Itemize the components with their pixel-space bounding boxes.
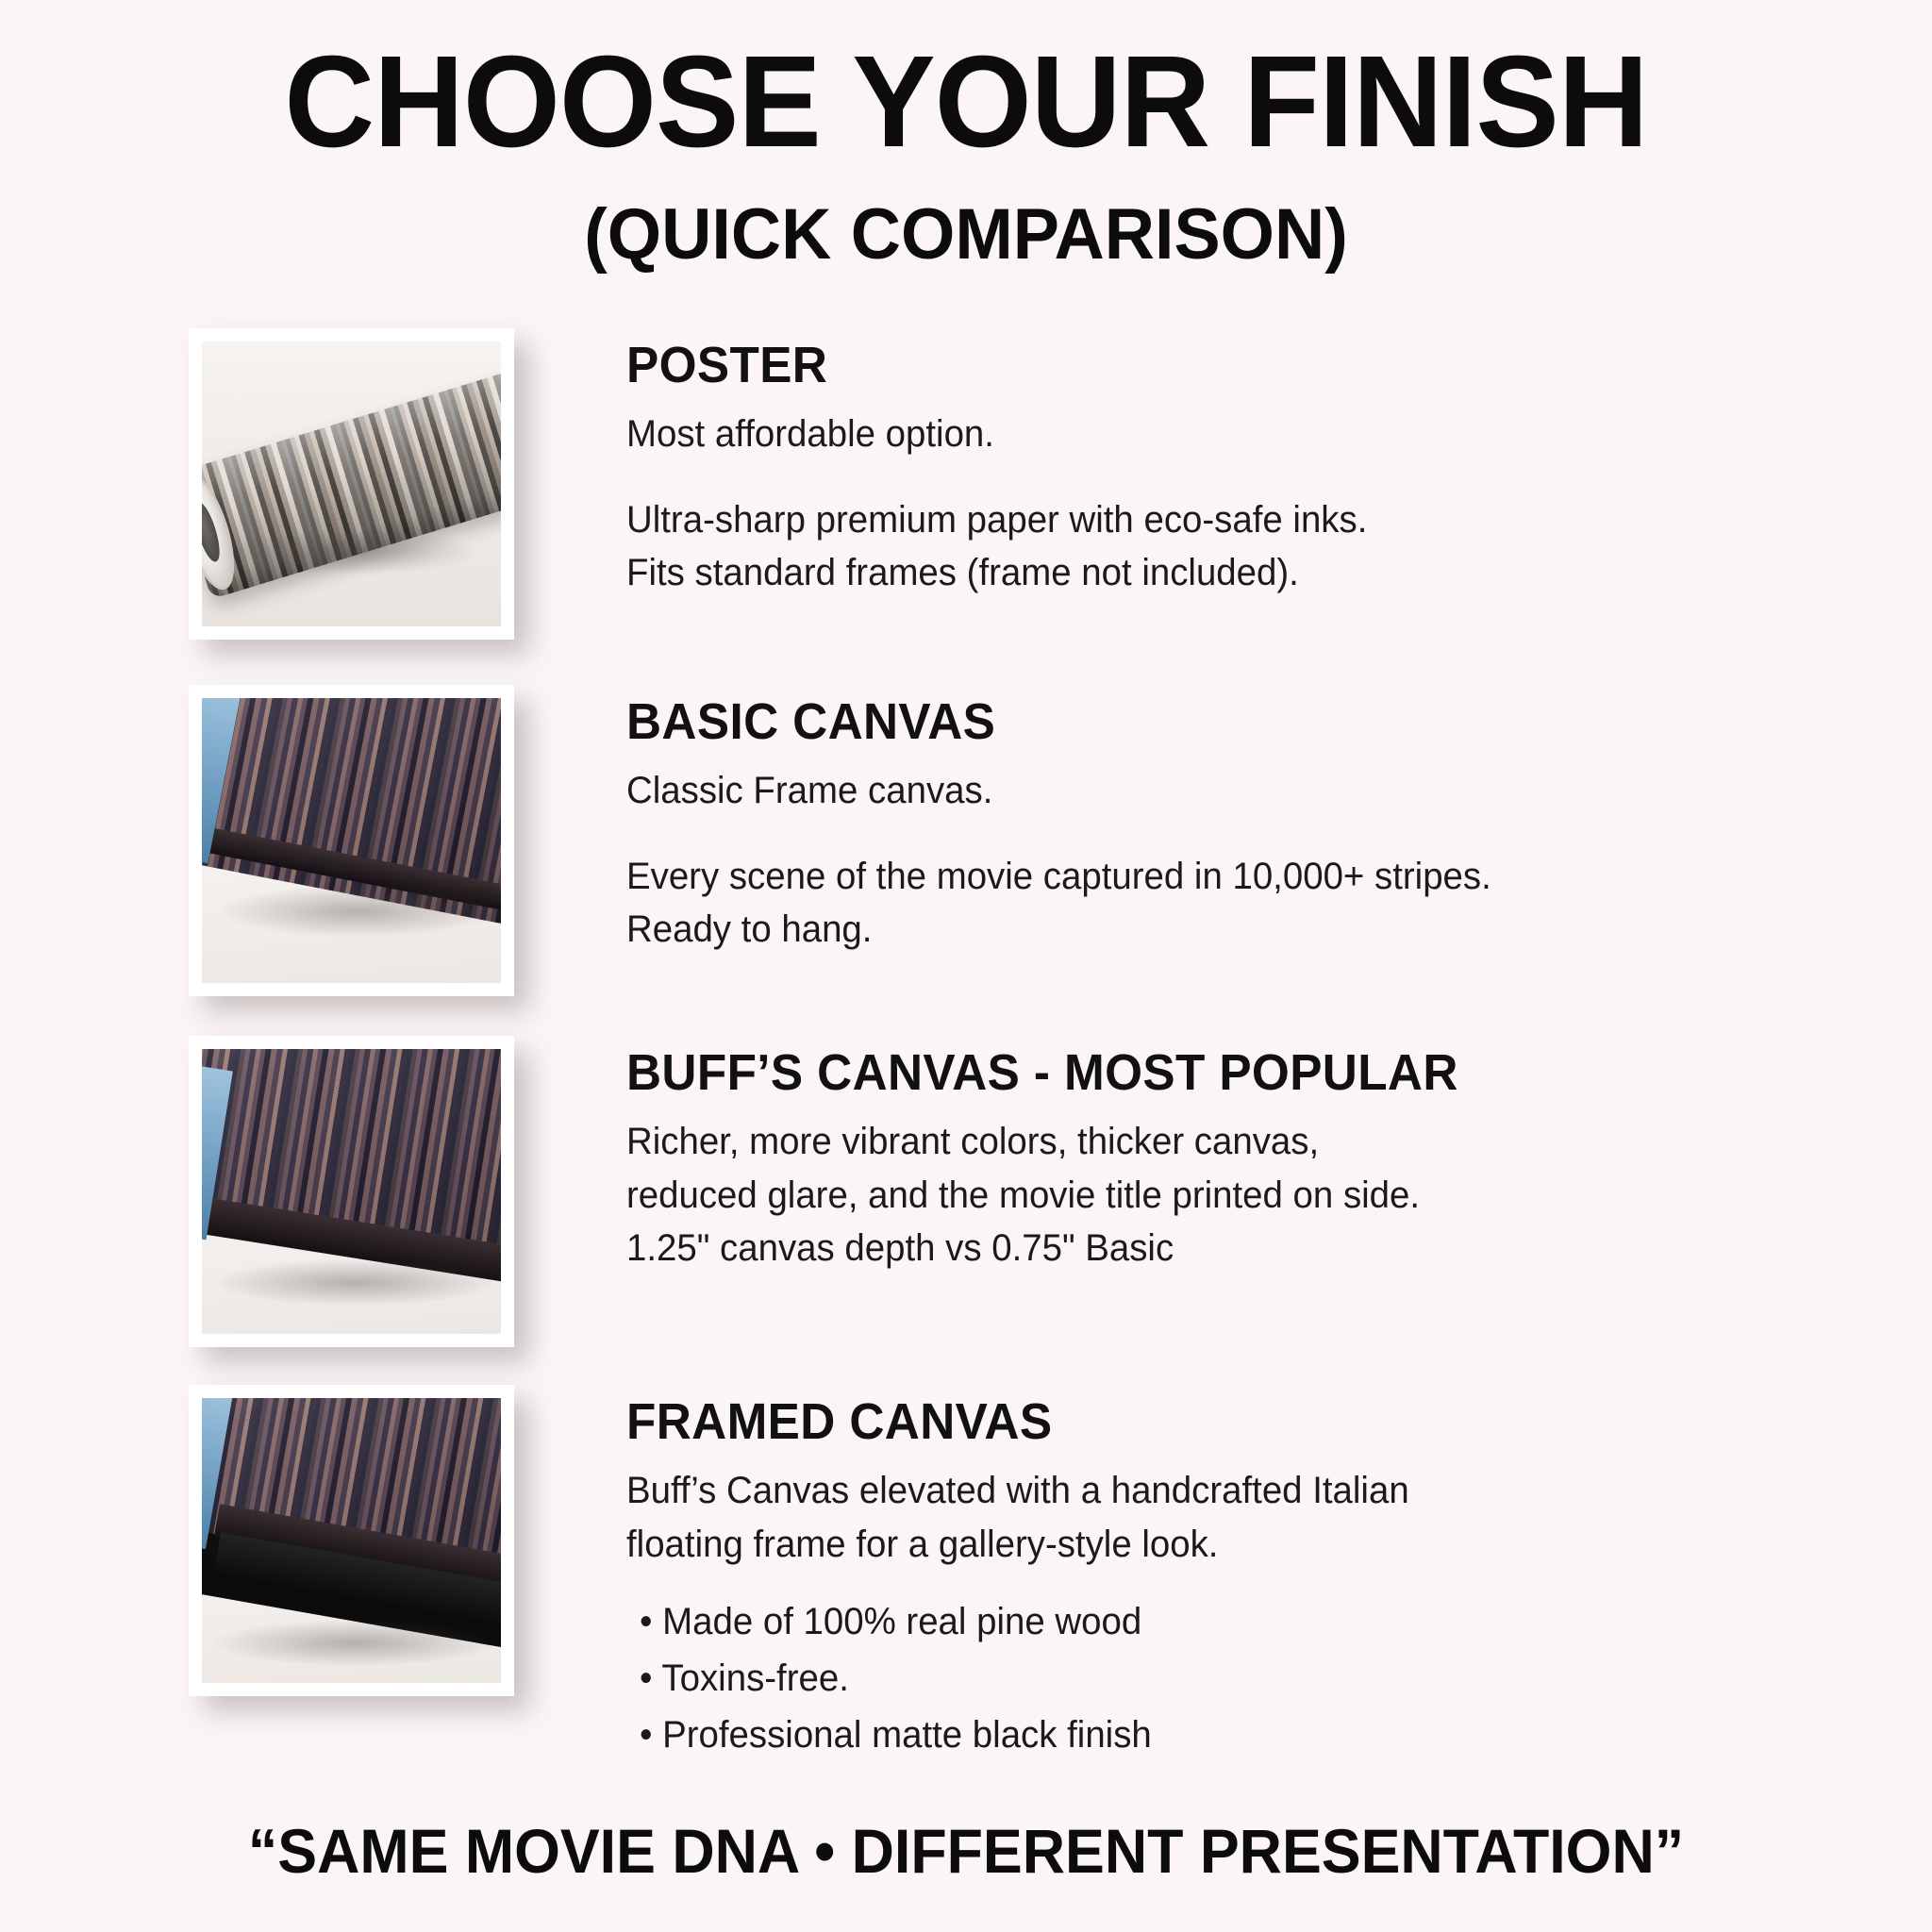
basic-canvas-thumb-wrap	[189, 685, 514, 996]
comparison-list: POSTER Most affordable option. Ultra-sha…	[0, 328, 1932, 1764]
header: CHOOSE YOUR FINISH (QUICK COMPARISON)	[0, 0, 1932, 279]
list-item: • Made of 100% real pine wood	[640, 1593, 1880, 1650]
section-title-poster: POSTER	[626, 336, 1867, 394]
basic-canvas-lead: Classic Frame canvas.	[626, 764, 1880, 818]
basic-canvas-text: BASIC CANVAS Classic Frame canvas. Every…	[514, 685, 1932, 957]
buffs-canvas-text: BUFF’S CANVAS - MOST POPULAR Richer, mor…	[514, 1036, 1932, 1275]
list-item: • Professional matte black finish	[640, 1707, 1880, 1763]
infographic-page: CHOOSE YOUR FINISH (QUICK COMPARISON)	[0, 0, 1932, 1932]
poster-thumb-wrap	[189, 328, 514, 640]
section-title-buffs-canvas: BUFF’S CANVAS - MOST POPULAR	[626, 1043, 1867, 1102]
section-title-basic-canvas: BASIC CANVAS	[626, 692, 1867, 751]
list-item: • Toxins-free.	[640, 1650, 1880, 1707]
framed-canvas-body-line-2: floating frame for a gallery-style look.	[626, 1518, 1880, 1572]
basic-canvas-image	[189, 685, 514, 996]
comparison-row-basic-canvas: BASIC CANVAS Classic Frame canvas. Every…	[0, 685, 1932, 996]
poster-roll-image	[189, 328, 514, 640]
poster-lead: Most affordable option.	[626, 408, 1880, 461]
basic-canvas-body-line-1: Every scene of the movie captured in 10,…	[626, 850, 1880, 904]
page-subtitle: (QUICK COMPARISON)	[29, 190, 1904, 279]
buffs-canvas-body-line-1: Richer, more vibrant colors, thicker can…	[626, 1115, 1880, 1169]
framed-canvas-body-line-1: Buff’s Canvas elevated with a handcrafte…	[626, 1464, 1880, 1518]
comparison-row-framed-canvas: FRAMED CANVAS Buff’s Canvas elevated wit…	[0, 1385, 1932, 1764]
buffs-canvas-body-line-2: reduced glare, and the movie title print…	[626, 1169, 1880, 1223]
framed-canvas-thumb-wrap	[189, 1385, 514, 1696]
poster-body-line-1: Ultra-sharp premium paper with eco-safe …	[626, 493, 1880, 547]
comparison-row-poster: POSTER Most affordable option. Ultra-sha…	[0, 328, 1932, 640]
comparison-row-buffs-canvas: BUFF’S CANVAS - MOST POPULAR Richer, mor…	[0, 1036, 1932, 1347]
poster-text: POSTER Most affordable option. Ultra-sha…	[514, 328, 1932, 600]
framed-canvas-bullets: • Made of 100% real pine wood • Toxins-f…	[626, 1593, 1932, 1763]
footer-tagline: “SAME MOVIE DNA • DIFFERENT PRESENTATION…	[48, 1815, 1884, 1887]
section-title-framed-canvas: FRAMED CANVAS	[626, 1392, 1867, 1451]
buffs-canvas-image	[189, 1036, 514, 1347]
buffs-canvas-body-line-3: 1.25" canvas depth vs 0.75" Basic	[626, 1222, 1880, 1275]
basic-canvas-body-line-2: Ready to hang.	[626, 903, 1880, 957]
page-title: CHOOSE YOUR FINISH	[39, 36, 1893, 169]
framed-canvas-text: FRAMED CANVAS Buff’s Canvas elevated wit…	[514, 1385, 1932, 1764]
poster-body-line-2: Fits standard frames (frame not included…	[626, 546, 1880, 600]
framed-canvas-image	[189, 1385, 514, 1696]
buffs-canvas-thumb-wrap	[189, 1036, 514, 1347]
